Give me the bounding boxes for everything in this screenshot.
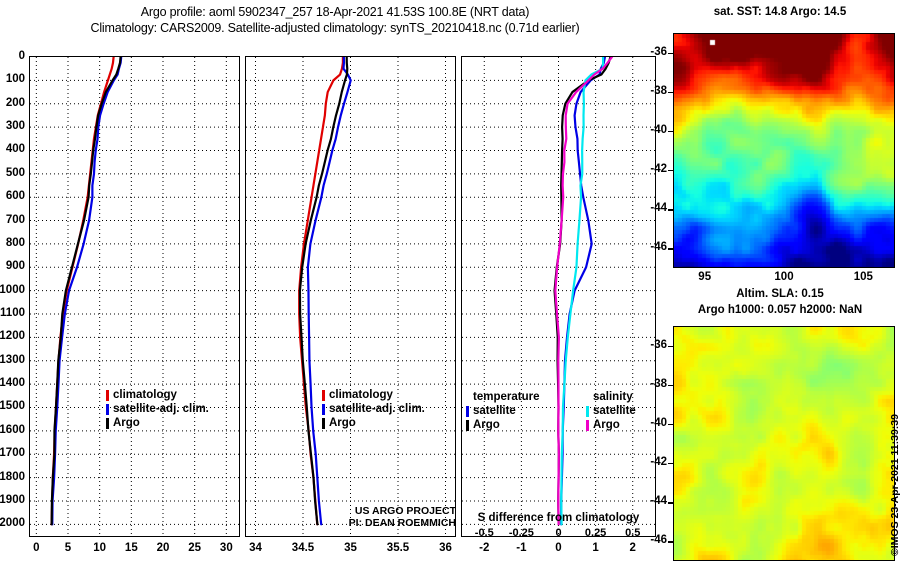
longitude-tick-label: 95 [685, 271, 725, 283]
legend-label: satellite [593, 404, 636, 418]
satellite-adj-clim-swatch [106, 404, 109, 415]
salinity-profile-panel[interactable] [245, 56, 456, 537]
depth-tick-label: 1700 [0, 447, 25, 459]
depth-tick-label: 1300 [0, 354, 25, 366]
depth-tick-label: 300 [0, 120, 25, 132]
legend-label: Argo [473, 418, 500, 432]
depth-tick-label: 700 [0, 214, 25, 226]
temperature-argo-swatch [466, 420, 469, 431]
legend-item: Argo [466, 418, 539, 432]
latitude-tick-label: -46 [637, 534, 667, 546]
page-title-line1: Argo profile: aoml 5902347_257 18-Apr-20… [0, 5, 670, 19]
sla-map[interactable] [673, 326, 895, 561]
depth-tick-label: 500 [0, 167, 25, 179]
latitude-tick-label: -44 [637, 495, 667, 507]
depth-tick-label: 400 [0, 143, 25, 155]
depth-tick-label: 800 [0, 237, 25, 249]
latitude-tick-mark [668, 170, 673, 171]
latitude-tick-mark [668, 502, 673, 503]
latitude-tick-label: -38 [637, 378, 667, 390]
page-title-line2: Climatology: CARS2009. Satellite-adjuste… [0, 21, 670, 35]
depth-tick-label: 1400 [0, 377, 25, 389]
temperature-profile-panel[interactable] [29, 56, 240, 537]
project-credit: US ARGO PROJECT PI: DEAN ROEMMICH [300, 505, 456, 529]
salinity-satellite-swatch [586, 406, 589, 417]
axis-tick-label: 35.5 [378, 542, 418, 554]
latitude-tick-mark [668, 463, 673, 464]
depth-tick-label: 1000 [0, 284, 25, 296]
axis-tick-label: 35 [331, 542, 371, 554]
climatology-swatch [106, 390, 109, 401]
difference-plot-area [462, 57, 655, 536]
climatology-swatch [322, 390, 325, 401]
sla-map-canvas [674, 327, 895, 561]
legend-label: Argo [329, 416, 356, 430]
latitude-tick-label: -44 [637, 202, 667, 214]
latitude-tick-label: -38 [637, 85, 667, 97]
axis-tick-label: 34.5 [283, 542, 323, 554]
legend-label: Argo [113, 416, 140, 430]
sla-map-header-line1: Altim. SLA: 0.15 [665, 288, 895, 300]
depth-tick-label: 1600 [0, 424, 25, 436]
satellite-adj-clim-swatch [322, 404, 325, 415]
longitude-tick-label: 105 [843, 271, 883, 283]
salinity-argo-swatch [586, 420, 589, 431]
temperature-plot-svg [30, 57, 239, 536]
legend-item: climatology [322, 388, 425, 402]
legend-heading-temperature: temperature [473, 390, 539, 404]
salinity-plot-area [246, 57, 455, 536]
sst-map[interactable] [673, 33, 895, 268]
depth-tick-label: 2000 [0, 517, 25, 529]
latitude-tick-mark [668, 131, 673, 132]
latitude-tick-mark [668, 92, 673, 93]
axis-tick-label: -1 [501, 542, 541, 554]
axis-tick-label: 0 [539, 542, 579, 554]
axis-tick-label: 36 [426, 542, 466, 554]
latitude-tick-label: -40 [637, 417, 667, 429]
legend-item: Argo [106, 416, 209, 430]
latitude-tick-mark [668, 385, 673, 386]
difference-legend-temperature: temperature satellite Argo [466, 390, 539, 432]
temperature-legend: climatology satellite-adj. clim. Argo [106, 388, 209, 430]
salinity-legend: climatology satellite-adj. clim. Argo [322, 388, 425, 430]
latitude-tick-label: -42 [637, 456, 667, 468]
legend-item: Argo [586, 418, 636, 432]
depth-tick-label: 1100 [0, 307, 25, 319]
axis-tick-label: -2 [464, 542, 504, 554]
sst-map-header: sat. SST: 14.8 Argo: 14.5 [665, 6, 895, 18]
latitude-tick-mark [668, 346, 673, 347]
sla-map-header-line2: Argo h1000: 0.057 h2000: NaN [665, 304, 895, 316]
latitude-tick-label: -36 [637, 339, 667, 351]
difference-plot-svg [462, 57, 655, 536]
legend-item: satellite-adj. clim. [106, 402, 209, 416]
latitude-tick-label: -42 [637, 163, 667, 175]
imos-credit: ©IMOS 23-Apr-2021 11:39:39 [889, 414, 900, 556]
depth-tick-label: 100 [0, 73, 25, 85]
axis-tick-label: 34 [236, 542, 276, 554]
latitude-tick-mark [668, 248, 673, 249]
latitude-tick-label: -40 [637, 124, 667, 136]
latitude-tick-mark [668, 53, 673, 54]
legend-label: satellite-adj. clim. [113, 402, 209, 416]
latitude-tick-label: -46 [637, 241, 667, 253]
principal-investigator: PI: DEAN ROEMMICH [300, 517, 456, 529]
depth-tick-label: 1800 [0, 471, 25, 483]
difference-profile-panel[interactable] [461, 56, 656, 537]
temperature-satellite-swatch [466, 406, 469, 417]
depth-tick-label: 1900 [0, 494, 25, 506]
legend-heading-salinity: salinity [593, 390, 636, 404]
axis-tick-label: 1 [576, 542, 616, 554]
legend-item: satellite [586, 404, 636, 418]
argo-swatch [106, 418, 109, 429]
legend-label: satellite-adj. clim. [329, 402, 425, 416]
depth-tick-label: 900 [0, 260, 25, 272]
legend-label: climatology [329, 388, 393, 402]
legend-label: Argo [593, 418, 620, 432]
difference-axis-title: S difference from climatology [461, 512, 656, 524]
temperature-plot-area [30, 57, 239, 536]
latitude-tick-mark [668, 541, 673, 542]
project-name: US ARGO PROJECT [300, 505, 456, 517]
legend-label: satellite [473, 404, 516, 418]
legend-item: Argo [322, 416, 425, 430]
legend-item: satellite-adj. clim. [322, 402, 425, 416]
sst-map-canvas [674, 34, 895, 268]
difference-legend-salinity: salinity satellite Argo [586, 390, 636, 432]
depth-tick-label: 1500 [0, 400, 25, 412]
salinity-plot-svg [246, 57, 455, 536]
depth-tick-label: 1200 [0, 330, 25, 342]
depth-tick-label: 600 [0, 190, 25, 202]
depth-tick-label: 200 [0, 97, 25, 109]
latitude-tick-label: -36 [637, 46, 667, 58]
longitude-tick-label: 100 [764, 271, 804, 283]
argo-swatch [322, 418, 325, 429]
depth-tick-label: 0 [0, 50, 25, 62]
latitude-tick-mark [668, 424, 673, 425]
legend-item: climatology [106, 388, 209, 402]
legend-label: climatology [113, 388, 177, 402]
latitude-tick-mark [668, 209, 673, 210]
legend-item: satellite [466, 404, 539, 418]
